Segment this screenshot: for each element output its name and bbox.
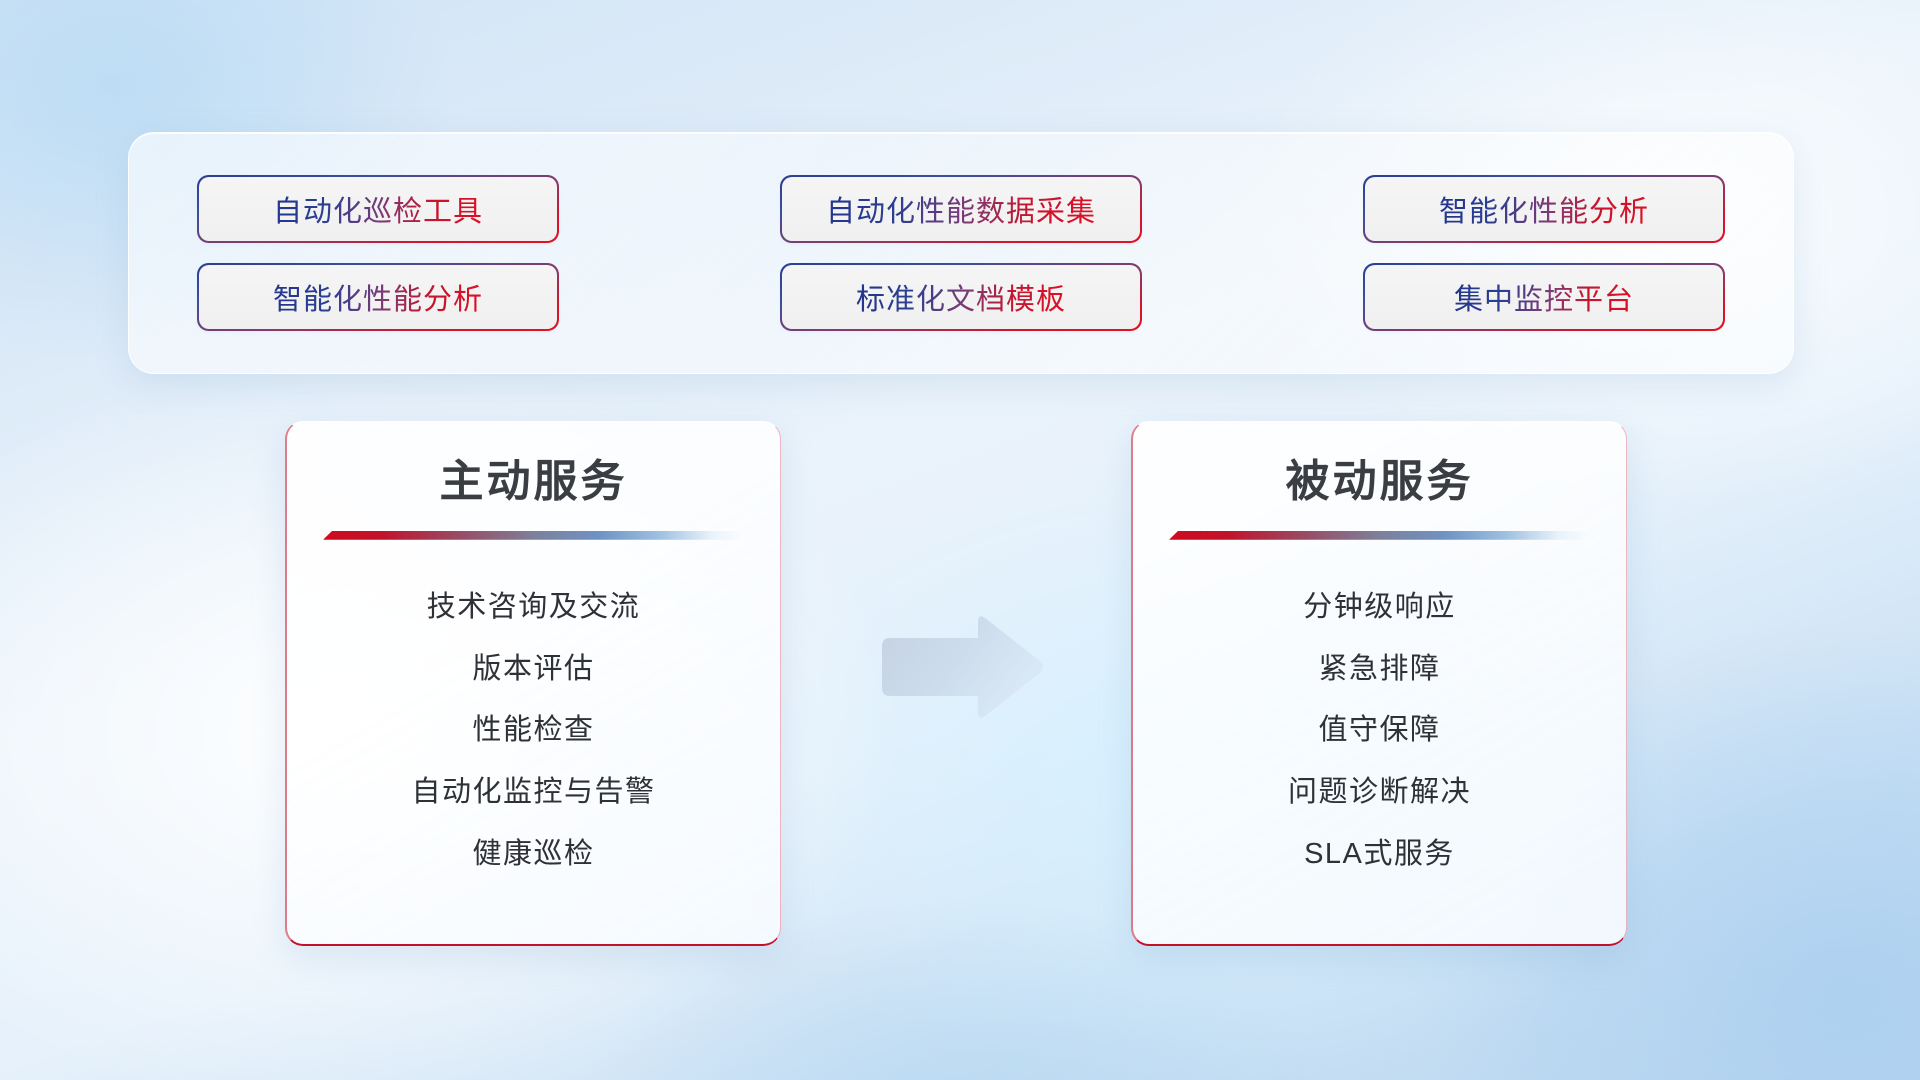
card-item-list: 分钟级响应 紧急排障 值守保障 问题诊断解决 SLA式服务 (1167, 545, 1592, 918)
card-title: 被动服务 (1167, 456, 1592, 509)
card-divider (323, 531, 742, 541)
infographic-canvas: 自动化巡检工具 自动化性能数据采集 智能化性能分析 智能化性能分析 标准化文档模… (0, 0, 1920, 1080)
capability-pill-label: 智能化性能分析 (1439, 188, 1649, 230)
capability-pill[interactable]: 标准化文档模板 (782, 265, 1140, 329)
capability-row-2: 智能化性能分析 标准化文档模板 集中监控平台 (199, 265, 1723, 329)
list-item: 技术咨询及交流 (321, 592, 746, 624)
list-item: 分钟级响应 (1167, 592, 1592, 624)
capability-pill[interactable]: 自动化巡检工具 (199, 177, 557, 241)
divider-bar (1169, 531, 1588, 540)
card-divider (1169, 531, 1588, 541)
capability-pill[interactable]: 自动化性能数据采集 (782, 177, 1140, 241)
list-item: 值守保障 (1167, 715, 1592, 747)
list-item: 紧急排障 (1167, 654, 1592, 686)
capability-pill[interactable]: 智能化性能分析 (1365, 177, 1723, 241)
list-item: 版本评估 (321, 654, 746, 686)
capability-pill-label: 智能化性能分析 (273, 276, 483, 318)
capability-pill[interactable]: 集中监控平台 (1365, 265, 1723, 329)
list-item: 性能检查 (321, 715, 746, 747)
list-item: 自动化监控与告警 (321, 777, 746, 809)
capability-pill-label: 自动化性能数据采集 (826, 188, 1096, 230)
divider-bar (323, 531, 742, 540)
capability-row-1: 自动化巡检工具 自动化性能数据采集 智能化性能分析 (199, 177, 1723, 241)
card-title: 主动服务 (321, 456, 746, 509)
arrow-right-block-icon (874, 612, 1046, 722)
capabilities-panel: 自动化巡检工具 自动化性能数据采集 智能化性能分析 智能化性能分析 标准化文档模… (128, 132, 1794, 374)
service-card-proactive: 主动服务 技术咨询及交流 版本评估 性能检查 自动化监控与告警 健康巡检 (285, 421, 781, 946)
list-item: SLA式服务 (1167, 839, 1592, 871)
capability-pill-label: 自动化巡检工具 (273, 188, 483, 230)
list-item: 健康巡检 (321, 839, 746, 871)
card-item-list: 技术咨询及交流 版本评估 性能检查 自动化监控与告警 健康巡检 (321, 545, 746, 918)
list-item: 问题诊断解决 (1167, 777, 1592, 809)
capability-pill[interactable]: 智能化性能分析 (199, 265, 557, 329)
service-card-reactive: 被动服务 分钟级响应 紧急排障 值守保障 问题诊断解决 SLA式服务 (1131, 421, 1627, 946)
capability-pill-label: 标准化文档模板 (856, 276, 1066, 318)
capability-pill-label: 集中监控平台 (1454, 276, 1634, 318)
